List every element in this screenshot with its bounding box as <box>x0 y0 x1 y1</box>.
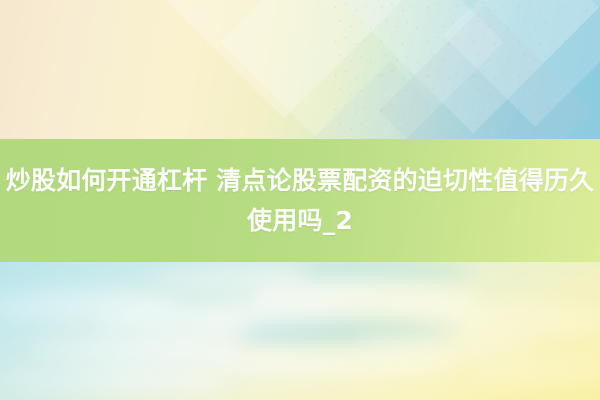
cover-image: 炒股如何开通杠杆 清点论股票配资的迫切性值得历久使用吗_2 <box>0 0 600 400</box>
top-decor-band <box>0 0 600 139</box>
page-title: 炒股如何开通杠杆 清点论股票配资的迫切性值得历久使用吗_2 <box>0 161 600 241</box>
bottom-sky-band <box>0 262 600 400</box>
title-banner: 炒股如何开通杠杆 清点论股票配资的迫切性值得历久使用吗_2 <box>0 139 600 262</box>
sky-warm-overlay <box>0 262 600 400</box>
texture-speckle-overlay <box>330 0 600 139</box>
